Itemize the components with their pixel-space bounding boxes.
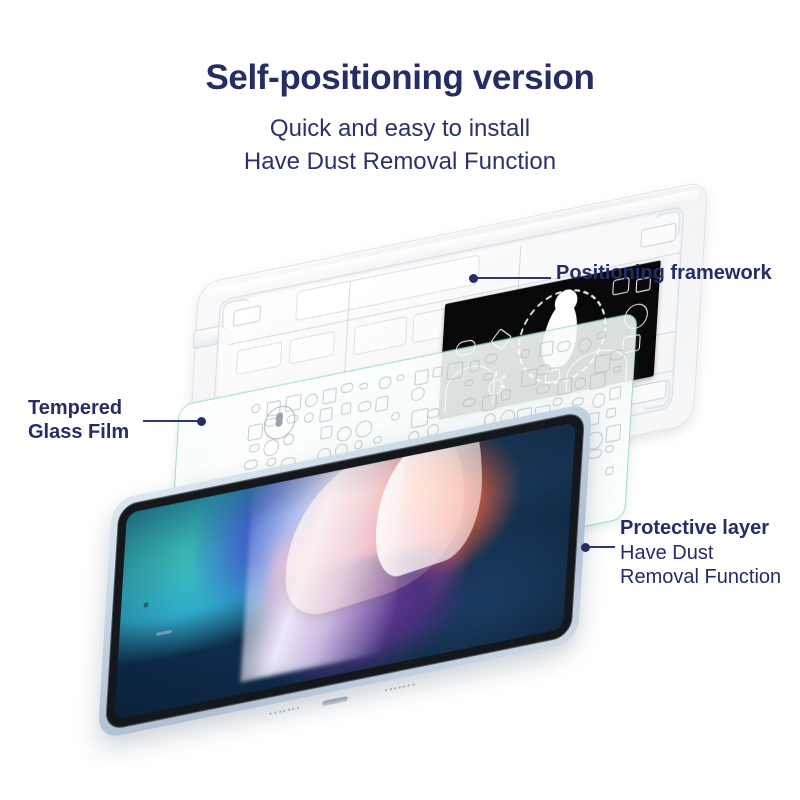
pattern-icon — [500, 389, 511, 402]
pattern-icon — [606, 407, 616, 419]
subtitle-line-1: Quick and easy to install — [0, 115, 800, 143]
pattern-icon — [359, 382, 368, 390]
pattern-icon — [535, 383, 549, 396]
callout-positioning-framework: Positioning framework — [556, 262, 772, 286]
pattern-icon — [396, 374, 405, 382]
pattern-icon — [375, 396, 389, 412]
tablet-device — [98, 402, 593, 739]
pattern-icon — [303, 411, 314, 424]
pattern-icon — [609, 349, 624, 362]
pattern-icon — [521, 368, 538, 388]
pattern-icon — [482, 394, 497, 412]
callout-protective-layer-heading: Protective layer — [620, 517, 781, 541]
pattern-icon — [373, 436, 383, 445]
pattern-icon — [341, 402, 352, 415]
pattern-icon — [263, 438, 280, 458]
pattern-icon — [251, 403, 261, 414]
pattern-icon — [539, 341, 553, 358]
callout-protective-layer-line-2: Removal Function — [620, 565, 781, 589]
pattern-icon — [357, 400, 372, 413]
pattern-icon — [304, 392, 318, 408]
pattern-icon — [592, 392, 606, 409]
pattern-icon — [612, 365, 621, 373]
pattern-icon — [596, 331, 606, 340]
pattern-icon — [244, 459, 257, 471]
pattern-icon — [319, 406, 333, 422]
pattern-icon — [463, 397, 475, 408]
infographic-canvas: Self-positioning version Quick and easy … — [0, 0, 800, 800]
pattern-icon — [485, 353, 498, 364]
pattern-icon — [411, 408, 428, 429]
pattern-icon — [427, 407, 440, 419]
pattern-icon — [447, 361, 464, 381]
pattern-icon — [588, 448, 602, 460]
tablet-frame — [98, 402, 593, 739]
callout-protective-layer: Protective layer Have Dust Removal Funct… — [620, 517, 781, 589]
pattern-icon — [605, 424, 621, 443]
pattern-icon — [469, 360, 480, 373]
pattern-icon — [605, 444, 615, 453]
pattern-icon — [322, 387, 337, 405]
pattern-icon — [266, 400, 281, 418]
pattern-icon — [337, 425, 352, 443]
usb-c-port — [323, 696, 349, 706]
speaker-grille-left — [270, 707, 299, 715]
pattern-icon — [286, 413, 299, 424]
pattern-icon — [556, 340, 570, 353]
pattern-icon — [574, 376, 586, 390]
callout-tempered-glass-line-2: Glass Film — [28, 420, 129, 444]
page-title: Self-positioning version — [0, 58, 800, 98]
pattern-icon — [609, 386, 621, 400]
pattern-icon — [553, 397, 563, 406]
pattern-icon — [414, 368, 429, 385]
pattern-icon — [249, 443, 260, 453]
pattern-icon — [536, 363, 551, 376]
pattern-icon — [557, 377, 573, 396]
pattern-icon — [605, 465, 614, 475]
callout-tempered-glass-line-1: Tempered — [28, 396, 129, 420]
pattern-icon — [264, 417, 276, 428]
subtitle-line-2: Have Dust Removal Function — [0, 148, 800, 176]
pattern-icon — [378, 375, 391, 390]
pattern-icon — [266, 457, 277, 467]
pattern-icon — [391, 411, 400, 422]
pattern-icon — [285, 394, 301, 413]
pattern-icon — [589, 371, 605, 390]
pattern-icon — [520, 348, 530, 359]
pattern-icon — [247, 423, 262, 441]
pattern-icon — [432, 366, 443, 379]
pattern-icon — [283, 433, 294, 446]
pattern-icon — [411, 386, 425, 403]
pattern-icon — [355, 419, 372, 439]
pattern-icon — [320, 425, 333, 440]
pattern-icon — [465, 380, 474, 388]
callout-protective-layer-line-1: Have Dust — [620, 541, 781, 565]
pattern-icon — [578, 337, 592, 353]
pattern-icon — [484, 372, 494, 381]
callout-tempered-glass-film: Tempered Glass Film — [28, 396, 129, 445]
pattern-icon — [340, 382, 354, 394]
callout-positioning-framework-heading: Positioning framework — [556, 262, 772, 286]
speaker-grille-right — [385, 683, 414, 691]
